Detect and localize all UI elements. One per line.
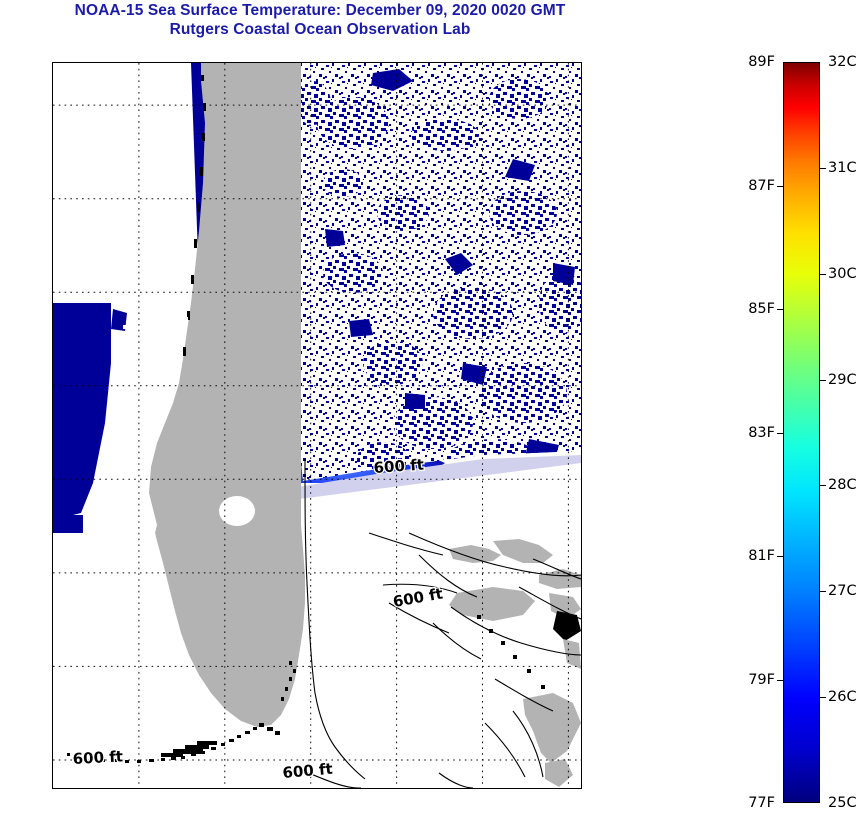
y-tick-minor: [52, 175, 53, 176]
x-tick-minor: [268, 62, 269, 63]
colorbar-label-celsius: 29C: [828, 372, 857, 388]
x-tick-minor: [547, 62, 548, 63]
x-tick-minor: [203, 788, 204, 789]
colorbar-tick-c: [820, 168, 826, 169]
x-tick-major-top: [311, 62, 312, 63]
colorbar-label-celsius: 31C: [828, 160, 857, 176]
page-title: NOAA-15 Sea Surface Temperature: Decembe…: [0, 2, 640, 40]
x-tick-minor: [117, 788, 118, 789]
x-tick-major-top: [482, 62, 483, 63]
contour-label-1: 600 ft: [373, 456, 424, 477]
y-tick-major: [52, 573, 53, 574]
x-tick-minor: [525, 788, 526, 789]
colorbar-tick-f: [777, 433, 783, 434]
x-tick-minor: [160, 62, 161, 63]
y-tick-minor: [52, 128, 53, 129]
x-tick-minor: [289, 62, 290, 63]
x-tick-minor: [461, 62, 462, 63]
x-tick-minor: [461, 788, 462, 789]
x-tick-major: [225, 788, 226, 789]
y-tick-minor: [52, 549, 53, 550]
y-tick-minor: [52, 713, 53, 714]
y-tick-minor: [52, 409, 53, 410]
x-tick-minor: [182, 62, 183, 63]
colorbar-label-celsius: 26C: [828, 689, 857, 705]
x-tick-minor: [160, 788, 161, 789]
y-tick-minor: [52, 222, 53, 223]
colorbar-tick-f: [777, 186, 783, 187]
x-tick-minor: [418, 62, 419, 63]
x-tick-minor: [504, 788, 505, 789]
y-tick-minor: [52, 433, 53, 434]
colorbar-tick-c: [820, 380, 826, 381]
x-tick-minor: [96, 788, 97, 789]
colorbar-tick-c: [820, 591, 826, 592]
x-tick-minor: [439, 788, 440, 789]
x-tick-minor: [332, 62, 333, 63]
colorbar-label-celsius: 25C: [828, 795, 857, 811]
y-tick-minor: [52, 783, 53, 784]
x-tick-minor: [117, 62, 118, 63]
colorbar-label-fahrenheit: 85F: [748, 301, 775, 317]
contour-label-3: 600 ft: [72, 747, 123, 768]
colorbar-tick-c: [820, 485, 826, 486]
map-plot-area: 600 ft 600 ft 600 ft 600 ft 31 0'30 0'29…: [52, 62, 582, 789]
x-tick-major: [482, 788, 483, 789]
y-tick-minor: [52, 269, 53, 270]
x-tick-major: [53, 788, 54, 789]
x-tick-minor: [268, 788, 269, 789]
colorbar-label-fahrenheit: 87F: [748, 178, 775, 194]
colorbar-label-celsius: 32C: [828, 54, 857, 70]
x-tick-minor: [203, 62, 204, 63]
x-tick-minor: [525, 62, 526, 63]
colorbar-label-celsius: 30C: [828, 266, 857, 282]
colorbar-legend: 32C31C30C29C28C27C26C25C89F87F85F83F81F7…: [783, 62, 865, 804]
x-tick-minor: [289, 788, 290, 789]
x-tick-minor: [418, 788, 419, 789]
y-tick-minor: [52, 643, 53, 644]
x-tick-major: [396, 788, 397, 789]
y-tick-minor: [52, 620, 53, 621]
x-tick-major: [568, 788, 569, 789]
x-tick-major-top: [568, 62, 569, 63]
y-tick-minor: [52, 152, 53, 153]
y-tick-minor: [52, 503, 53, 504]
x-tick-minor: [74, 788, 75, 789]
colorbar-label-fahrenheit: 77F: [748, 795, 775, 811]
x-tick-minor: [375, 62, 376, 63]
x-tick-major-top: [396, 62, 397, 63]
y-tick-minor: [52, 596, 53, 597]
y-tick-major: [52, 105, 53, 106]
x-tick-minor: [547, 788, 548, 789]
y-tick-major: [52, 666, 53, 667]
title-line-1: NOAA-15 Sea Surface Temperature: Decembe…: [0, 2, 640, 21]
colorbar-label-celsius: 27C: [828, 583, 857, 599]
y-tick-minor: [52, 339, 53, 340]
x-tick-major: [139, 788, 140, 789]
x-tick-minor: [246, 788, 247, 789]
y-tick-minor: [52, 316, 53, 317]
y-tick-minor: [52, 526, 53, 527]
y-tick-minor: [52, 245, 53, 246]
x-tick-minor: [74, 62, 75, 63]
x-tick-major: [311, 788, 312, 789]
colorbar-tick-f: [777, 680, 783, 681]
y-tick-major: [52, 199, 53, 200]
y-tick-major: [52, 760, 53, 761]
y-tick-major: [52, 386, 53, 387]
x-tick-minor: [246, 62, 247, 63]
colorbar-label-fahrenheit: 79F: [748, 672, 775, 688]
colorbar-tick-c: [820, 274, 826, 275]
x-tick-minor: [353, 788, 354, 789]
x-tick-minor: [504, 62, 505, 63]
y-tick-major: [52, 479, 53, 480]
map-canvas: 600 ft 600 ft 600 ft 600 ft: [53, 63, 581, 788]
x-tick-minor: [182, 788, 183, 789]
x-tick-minor: [353, 62, 354, 63]
y-tick-minor: [52, 456, 53, 457]
colorbar-tick-f: [777, 309, 783, 310]
colorbar-label-fahrenheit: 81F: [748, 548, 775, 564]
y-tick-minor: [52, 737, 53, 738]
colorbar-label-fahrenheit: 89F: [748, 54, 775, 70]
colorbar-gradient: [783, 62, 820, 803]
y-tick-major: [52, 292, 53, 293]
title-line-2: Rutgers Coastal Ocean Observation Lab: [0, 21, 640, 40]
map-graphics: 600 ft 600 ft 600 ft 600 ft: [53, 63, 581, 788]
x-tick-minor: [439, 62, 440, 63]
colorbar-tick-f: [777, 556, 783, 557]
y-tick-minor: [52, 690, 53, 691]
x-tick-minor: [96, 62, 97, 63]
x-tick-minor: [375, 788, 376, 789]
x-tick-major-top: [53, 62, 54, 63]
y-tick-minor: [52, 362, 53, 363]
x-tick-major-top: [139, 62, 140, 63]
x-tick-major-top: [225, 62, 226, 63]
colorbar-tick-c: [820, 697, 826, 698]
colorbar-label-celsius: 28C: [828, 477, 857, 493]
colorbar-label-fahrenheit: 83F: [748, 425, 775, 441]
x-tick-minor: [332, 788, 333, 789]
